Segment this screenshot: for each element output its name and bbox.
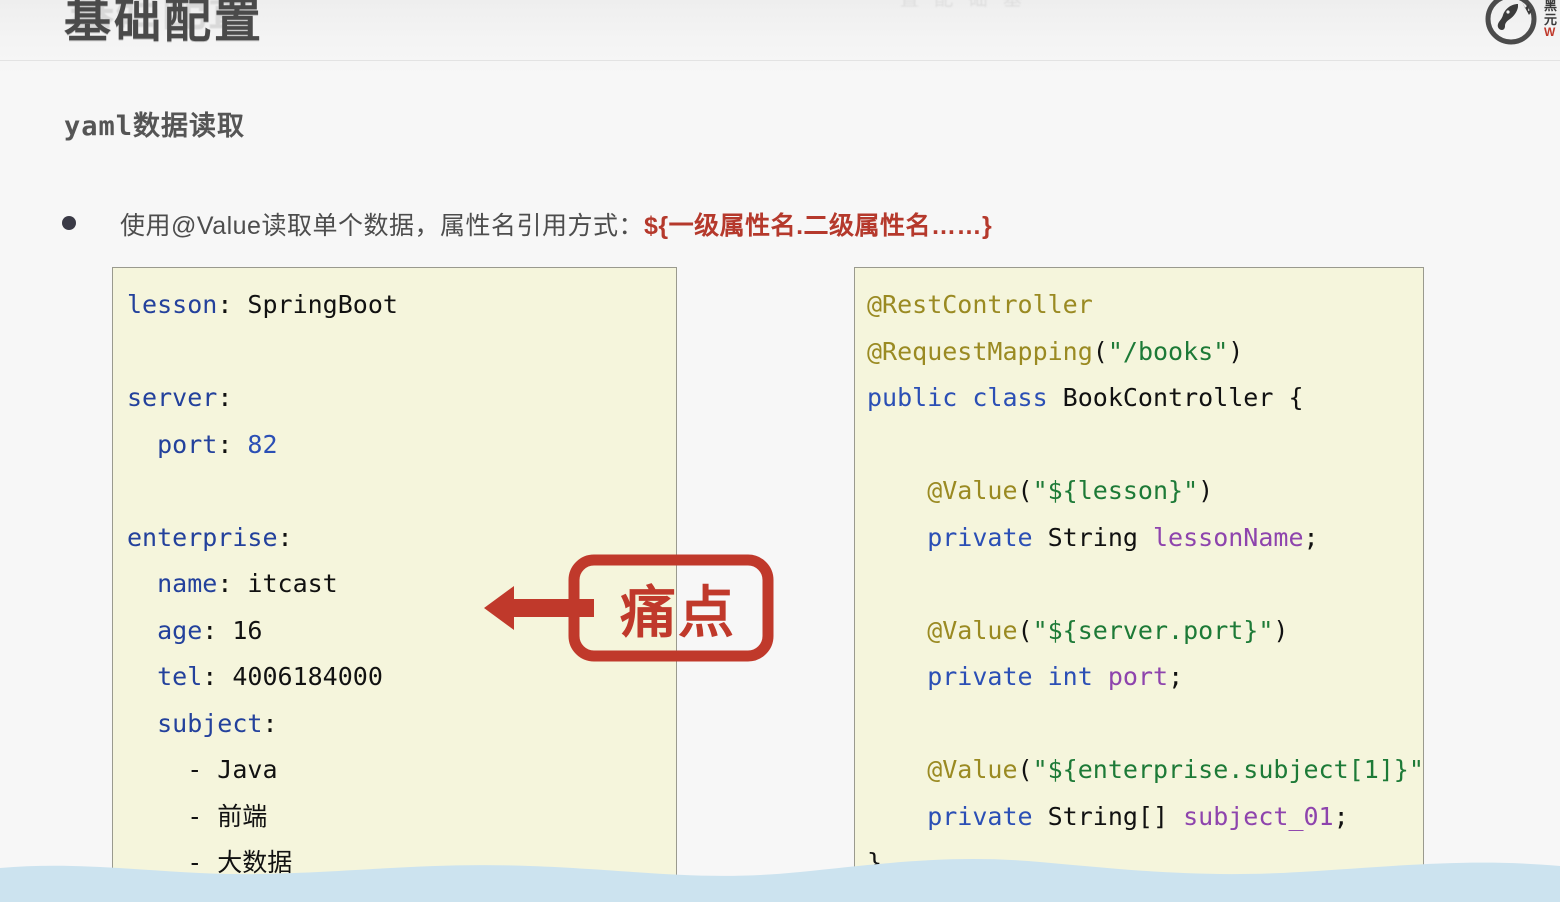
code-token: : xyxy=(217,290,247,319)
code-line xyxy=(127,468,676,515)
bullet-text: 使用@Value读取单个数据，属性名引用方式： xyxy=(120,206,644,242)
code-line: - 前端 xyxy=(127,794,676,841)
code-token: @RestController xyxy=(867,290,1093,319)
code-line: @Value("${enterprise.subject[1]}") xyxy=(867,747,1423,794)
code-token: @Value xyxy=(867,476,1018,505)
code-token: private xyxy=(867,523,1033,552)
code-token: @Value xyxy=(867,755,1018,784)
code-token: 16 xyxy=(232,616,262,645)
code-token: String[] xyxy=(1033,802,1184,831)
code-line: @RestController xyxy=(867,282,1423,329)
code-token: subject xyxy=(127,709,262,738)
code-token: BookController { xyxy=(1048,383,1304,412)
code-token: : xyxy=(202,662,232,691)
code-line xyxy=(867,701,1423,748)
code-token: port xyxy=(127,430,217,459)
code-line xyxy=(127,329,676,376)
code-token: @Value xyxy=(867,616,1018,645)
code-line: public class BookController { xyxy=(867,375,1423,422)
code-token: ( xyxy=(1018,755,1033,784)
code-token: : xyxy=(262,709,277,738)
code-token: : xyxy=(217,430,247,459)
horse-head-logo-icon xyxy=(1484,0,1538,46)
code-token: - 前端 xyxy=(127,802,267,831)
code-token: private xyxy=(867,802,1033,831)
code-token: 82 xyxy=(247,430,277,459)
code-line: @RequestMapping("/books") xyxy=(867,329,1423,376)
code-line: server: xyxy=(127,375,676,422)
bullet-row: 使用@Value读取单个数据，属性名引用方式： ${一级属性名.二级属性名……} xyxy=(62,206,992,242)
code-token: @RequestMapping xyxy=(867,337,1093,366)
code-token: ; xyxy=(1168,662,1183,691)
code-token: ( xyxy=(1018,616,1033,645)
code-line: private int port; xyxy=(867,654,1423,701)
code-line: port: 82 xyxy=(127,422,676,469)
code-token: itcast xyxy=(247,569,337,598)
code-token: } xyxy=(867,848,882,877)
java-code-block: @RestController@RequestMapping("/books")… xyxy=(854,267,1424,888)
code-token: : xyxy=(217,569,247,598)
code-token: "${server.port}" xyxy=(1033,616,1274,645)
code-token: : xyxy=(217,383,232,412)
code-token: - 大数据 xyxy=(127,848,292,877)
code-token: subject_01 xyxy=(1183,802,1334,831)
code-line: private String[] subject_01; xyxy=(867,794,1423,841)
code-token: tel xyxy=(127,662,202,691)
code-token xyxy=(1093,662,1108,691)
code-line xyxy=(867,561,1423,608)
code-line: lesson: SpringBoot xyxy=(127,282,676,329)
bullet-dot-icon xyxy=(62,216,76,230)
brand-text: 黑 元 W xyxy=(1544,0,1560,39)
brand-line-1: 黑 xyxy=(1544,0,1560,13)
code-line: @Value("${server.port}") xyxy=(867,608,1423,655)
bullet-highlight-text: ${一级属性名.二级属性名……} xyxy=(644,206,992,242)
code-token: - Java xyxy=(127,755,278,784)
code-token: : xyxy=(202,616,232,645)
brand-line-3: W xyxy=(1544,26,1560,39)
code-line: } xyxy=(867,840,1423,887)
code-token: name xyxy=(127,569,217,598)
code-token: ) xyxy=(1198,476,1213,505)
code-token: ) xyxy=(1273,616,1288,645)
code-line: @Value("${lesson}") xyxy=(867,468,1423,515)
code-line: - 大数据 xyxy=(127,840,676,887)
code-line xyxy=(867,422,1423,469)
code-token: String xyxy=(1033,523,1153,552)
code-token: public class xyxy=(867,383,1048,412)
brand-line-2: 元 xyxy=(1544,13,1560,27)
code-token: private int xyxy=(867,662,1093,691)
code-token: port xyxy=(1108,662,1168,691)
page-title: 基础配置 xyxy=(64,0,264,51)
code-token: ( xyxy=(1093,337,1108,366)
code-token: 4006184000 xyxy=(232,662,383,691)
code-token: ; xyxy=(1334,802,1349,831)
brand-logo: 黑 元 W xyxy=(1484,0,1560,46)
code-token: "${enterprise.subject[1]}" xyxy=(1033,755,1424,784)
code-line: private String lessonName; xyxy=(867,515,1423,562)
code-line: subject: xyxy=(127,701,676,748)
code-token: SpringBoot xyxy=(247,290,398,319)
code-token: lesson xyxy=(127,290,217,319)
code-token: lessonName xyxy=(1153,523,1304,552)
code-token: server xyxy=(127,383,217,412)
ghost-top-text: 置 配 础 基 xyxy=(900,0,1027,11)
code-token: : xyxy=(278,523,293,552)
section-title: yaml数据读取 xyxy=(64,104,245,143)
code-line: - Java xyxy=(127,747,676,794)
code-token: ; xyxy=(1304,523,1319,552)
code-token: "${lesson}" xyxy=(1033,476,1199,505)
code-token: age xyxy=(127,616,202,645)
pain-point-label: 痛点 xyxy=(596,570,760,646)
code-token: enterprise xyxy=(127,523,278,552)
pain-point-callout: 痛点 xyxy=(484,552,776,664)
code-token: ( xyxy=(1018,476,1033,505)
code-token: ) xyxy=(1228,337,1243,366)
code-token: "/books" xyxy=(1108,337,1228,366)
slide-header: 置 配 础 基 基础配置 基础配置 黑 元 W xyxy=(0,0,1560,61)
